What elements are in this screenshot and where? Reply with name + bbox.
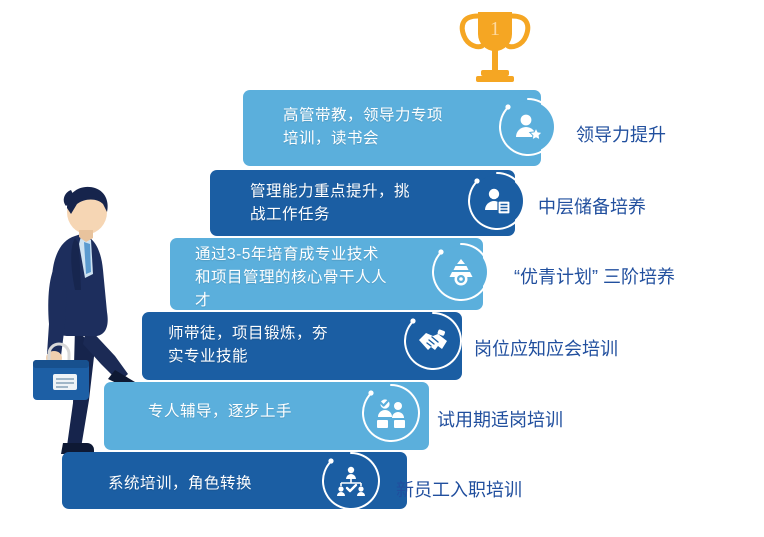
- two-people-check-icon: [365, 387, 417, 439]
- trophy-number: 1: [490, 18, 500, 40]
- step-label-6: 领导力提升: [576, 124, 666, 146]
- staircase-diagram: 1: [0, 0, 764, 537]
- step-text-4: 通过3-5年培育成专业技术 和项目管理的核心骨干人人 才: [195, 243, 435, 312]
- step-text-3: 师带徒，项目锻炼，夯 实专业技能: [168, 322, 398, 368]
- step-badge-1[interactable]: [322, 452, 380, 510]
- pyramid-target-icon: [435, 246, 487, 298]
- person-star-icon: [502, 101, 554, 153]
- handshake-icon: [407, 315, 459, 367]
- step-badge-2[interactable]: [362, 384, 420, 442]
- team-structure-check-icon: [325, 455, 377, 507]
- person-document-icon: [471, 175, 523, 227]
- step-label-2: 试用期适岗培训: [437, 409, 563, 431]
- step-text-5: 管理能力重点提升，挑 战工作任务: [250, 180, 480, 226]
- step-badge-4[interactable]: [432, 243, 490, 301]
- step-text-1: 系统培训，角色转换: [108, 472, 338, 495]
- step-label-4: “优青计划” 三阶培养: [514, 266, 675, 288]
- step-text-2: 专人辅导，逐步上手: [148, 400, 378, 423]
- step-label-1: 新员工入职培训: [396, 479, 522, 501]
- step-text-6: 高管带教，领导力专项 培训，读书会: [283, 104, 513, 150]
- step-badge-5[interactable]: [468, 172, 526, 230]
- step-badge-3[interactable]: [404, 312, 462, 370]
- step-badge-6[interactable]: [499, 98, 557, 156]
- trophy-icon: 1: [452, 4, 538, 88]
- step-label-5: 中层储备培养: [538, 196, 646, 218]
- step-label-3: 岗位应知应会培训: [474, 338, 618, 360]
